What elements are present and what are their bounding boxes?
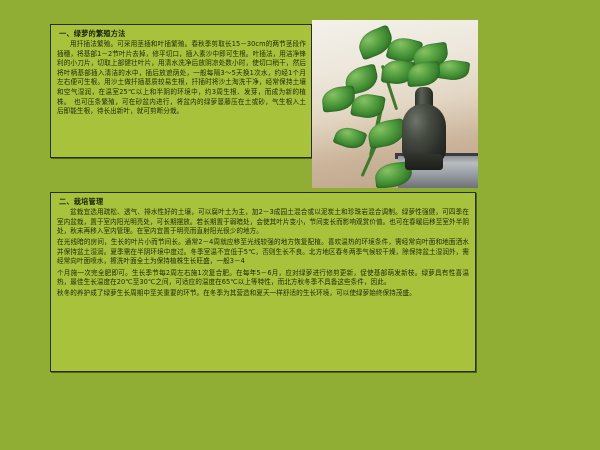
propagation-heading: 一、绿萝的繁殖方法 — [57, 29, 306, 39]
cultivation-paragraph-2: 在光线暗的房间，生长的叶片小而节间长。通常2－4周就应移至光线较强的地方恢复配植… — [57, 238, 469, 267]
cultivation-paragraph-3: 个月施一次完全肥即可。生长季节每2周左右施1次复合肥。在每年5－6月，应对绿萝进… — [57, 269, 469, 288]
pothos-in-vase-photo — [312, 20, 478, 188]
slide-canvas: 一、绿萝的繁殖方法 用扦插法繁殖。可采用茎插和叶插繁殖。春秋季剪取长15－30c… — [0, 0, 600, 450]
cultivation-paragraph-1: 盆栽宜选用疏松、透气、排水性好的土壤，可以腐叶土为主，加2－3成园土混合或以泥炭… — [57, 208, 469, 237]
text-box-cultivation: 二、栽培管理 盆栽宜选用疏松、透气、排水性好的土壤，可以腐叶土为主，加2－3成园… — [50, 192, 476, 372]
text-box-propagation: 一、绿萝的繁殖方法 用扦插法繁殖。可采用茎插和叶插繁殖。春秋季剪取长15－30c… — [50, 24, 312, 158]
cultivation-heading: 二、栽培管理 — [57, 197, 469, 207]
vase-foot — [405, 154, 443, 169]
cultivation-paragraph-4: 秋冬的养护成了绿萝生长周期中至关重要的环节。在冬季为其营造和夏天一样舒适的生长环… — [57, 289, 469, 299]
propagation-paragraph: 用扦插法繁殖。可采用茎插和叶插繁殖。春秋季剪取长15－30cm的两节茎段作插穗，… — [57, 40, 306, 117]
